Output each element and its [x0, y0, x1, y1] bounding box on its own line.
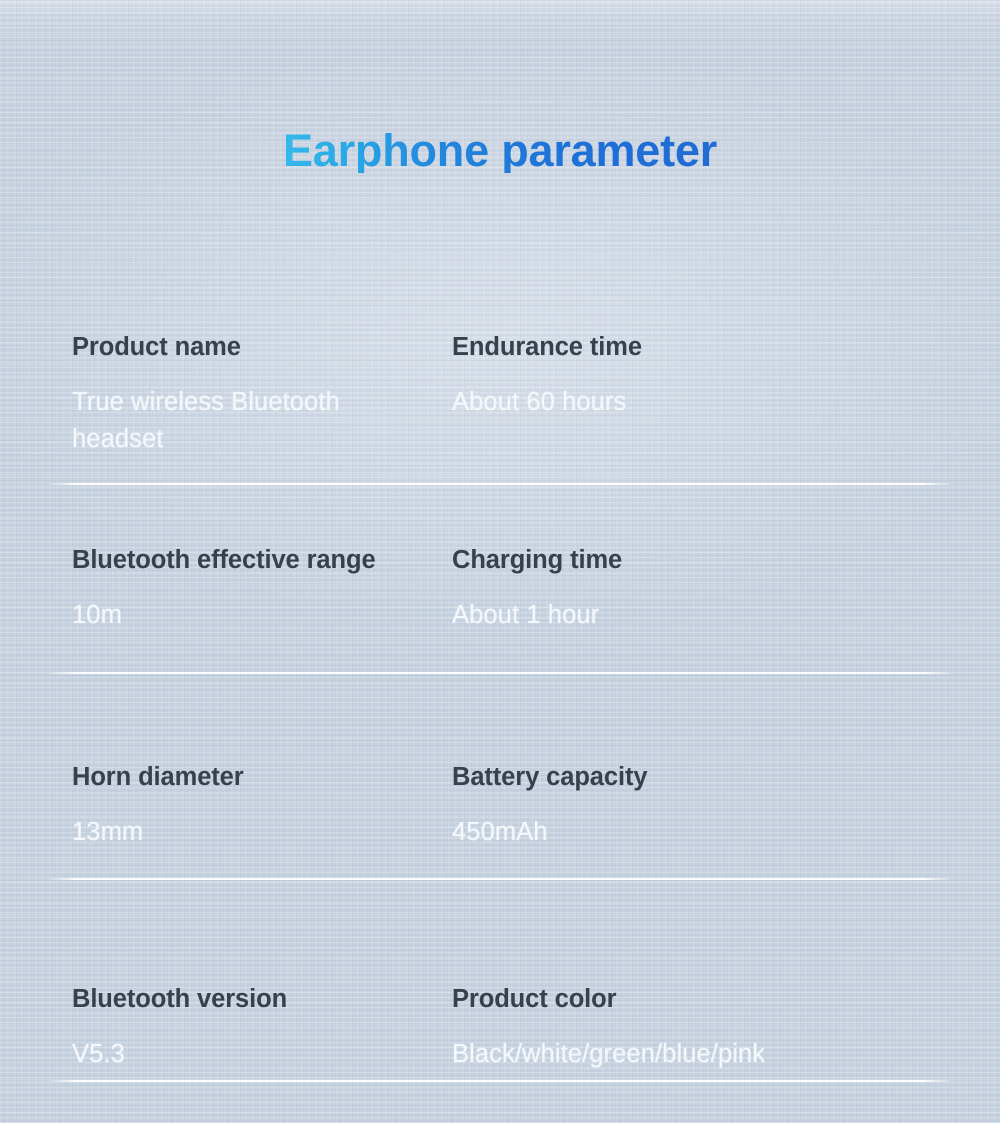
- row-divider: [50, 672, 950, 674]
- spec-value: 13mm: [72, 814, 440, 851]
- spec-label: Bluetooth effective range: [72, 545, 440, 576]
- spec-label: Product name: [72, 332, 440, 363]
- spec-row: Bluetooth version V5.3 Product color Bla…: [0, 962, 1000, 1123]
- spec-cell-endurance-time: Endurance time About 60 hours: [440, 332, 930, 521]
- spec-label: Endurance time: [452, 332, 930, 363]
- spec-label: Horn diameter: [72, 762, 440, 793]
- spec-row: Product name True wireless Bluetooth hea…: [0, 322, 1000, 521]
- spec-value: About 1 hour: [452, 597, 930, 634]
- page-title: Earphone parameter: [283, 128, 717, 173]
- spec-cell-charging-time: Charging time About 1 hour: [440, 545, 930, 740]
- spec-cell-product-name: Product name True wireless Bluetooth hea…: [0, 332, 440, 521]
- spec-cell-battery-capacity: Battery capacity 450mAh: [440, 762, 930, 962]
- spec-value: About 60 hours: [452, 384, 930, 421]
- spec-label: Bluetooth version: [72, 984, 440, 1015]
- page-title-container: Earphone parameter: [0, 128, 1000, 173]
- spec-label: Charging time: [452, 545, 930, 576]
- earphone-parameter-page: Earphone parameter Product name True wir…: [0, 0, 1000, 1123]
- spec-value: True wireless Bluetooth headset: [72, 384, 372, 457]
- spec-value: Black/white/green/blue/pink: [452, 1036, 930, 1073]
- row-divider: [50, 1080, 950, 1082]
- spec-value: 10m: [72, 597, 440, 634]
- spec-row: Bluetooth effective range 10m Charging t…: [0, 521, 1000, 740]
- spec-label: Battery capacity: [452, 762, 930, 793]
- spec-cell-bluetooth-version: Bluetooth version V5.3: [0, 984, 440, 1123]
- spec-value: V5.3: [72, 1036, 440, 1073]
- spec-table: Product name True wireless Bluetooth hea…: [0, 322, 1000, 1123]
- row-divider: [50, 483, 950, 485]
- spec-cell-product-color: Product color Black/white/green/blue/pin…: [440, 984, 930, 1123]
- spec-value: 450mAh: [452, 814, 930, 851]
- row-divider: [50, 878, 950, 880]
- spec-cell-horn-diameter: Horn diameter 13mm: [0, 762, 440, 962]
- spec-row: Horn diameter 13mm Battery capacity 450m…: [0, 740, 1000, 962]
- spec-cell-bluetooth-effective-range: Bluetooth effective range 10m: [0, 545, 440, 740]
- spec-label: Product color: [452, 984, 930, 1015]
